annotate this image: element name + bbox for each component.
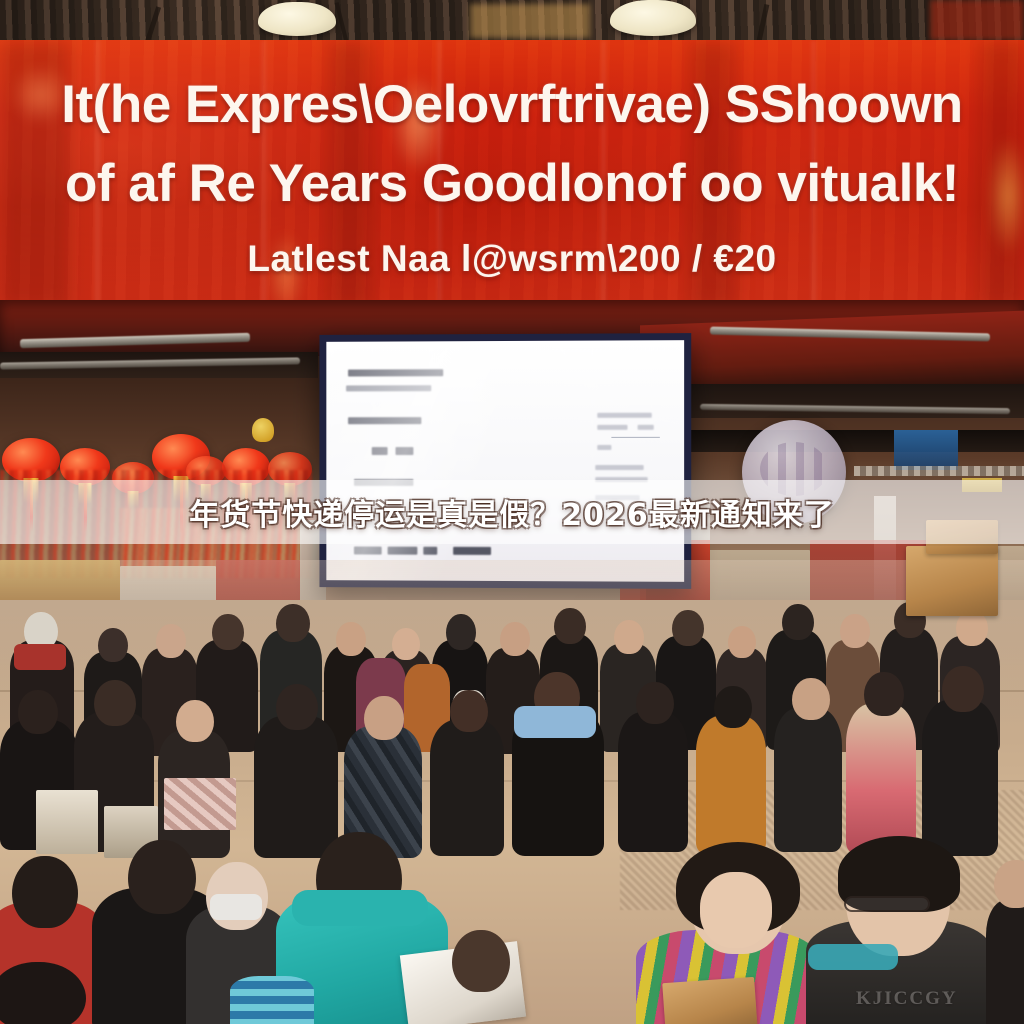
person-head [994,860,1024,908]
person-head [176,700,214,742]
face [700,872,772,948]
overlay-title: 年货节快递停运是真是假？2026最新通知来了 [0,480,1024,544]
person-head [446,614,476,650]
person-head [792,678,830,720]
cardboard-box [906,546,998,616]
banner-line-3: Latlest Naa l@wsrm\200 / €20 [247,240,776,277]
person-head [364,696,404,740]
billboard-screen [326,340,684,582]
cardboard-box [662,977,758,1024]
shop-signage-stripe [854,466,1024,476]
person-head [450,690,488,732]
gift-package [164,778,236,830]
billboard-text-line [638,425,654,430]
person-head [336,622,366,656]
billboard-text-line [423,547,437,555]
person-head [18,690,58,734]
billboard-text-line [396,447,414,455]
person-body-striped [230,976,314,1024]
person-head [500,622,530,656]
person-body [986,900,1024,1024]
person-body [922,700,998,856]
person-head [714,686,752,728]
person-body-orange [696,716,766,854]
shop-signage-blue [894,430,958,470]
person-head [98,628,128,662]
ceiling-light [610,0,696,36]
billboard-text-line [597,413,651,418]
person-head [554,608,586,644]
person-head [128,840,196,914]
golden-ornament [252,418,274,442]
billboard-text-line [348,369,443,376]
ceiling-warm-panel [470,4,590,38]
person-head [782,604,814,640]
person-head [840,614,870,648]
person-head [276,684,318,730]
billboard-text-line [597,445,611,450]
person-head [452,930,510,992]
billboard-text-line [372,447,388,455]
eyeglasses [844,896,930,912]
person-body [774,708,842,852]
ceiling-dark-band [690,430,1024,452]
hero-image: It(he Expres\Oelovrftrivae) SShoown of a… [0,0,1024,1024]
ceiling-light [258,2,336,36]
person-head [636,682,674,724]
person-head [12,856,78,928]
person-body [618,712,688,852]
billboard-text-line [388,547,418,555]
person-head [94,680,136,726]
billboard-text-line [348,417,421,424]
face-mask [210,894,262,920]
banner-line-1: It(he Expres\Oelovrftrivae) SShoown [61,78,962,131]
person-body [254,716,338,858]
collar-teal [808,944,898,970]
led-billboard[interactable] [319,333,691,589]
person-head [614,620,644,654]
person-body-pink [846,704,916,854]
banner-line-2: of af Re Years Goodlonof oo vitualk! [65,157,959,210]
hood-collar [292,890,428,926]
billboard-text-line [346,385,431,391]
person-head [864,672,904,716]
blue-scarf [514,706,596,738]
ceiling-warm-panel [930,0,1024,40]
person-head [212,614,244,650]
person-head [672,610,704,646]
scarf [14,644,66,670]
billboard-text-line [597,425,627,430]
shopping-bag [36,790,98,854]
billboard-text-line [595,465,643,470]
person-head [728,626,756,658]
person-head [392,628,420,660]
person-head [156,624,186,658]
person-head [942,666,984,712]
billboard-text-line [354,546,382,554]
person-head [276,604,310,642]
person-body [430,720,504,856]
billboard-text-line [453,547,491,555]
red-new-year-banner: It(he Expres\Oelovrftrivae) SShoown of a… [0,40,1024,308]
billboard-rule [611,437,659,438]
banner-text-block: It(he Expres\Oelovrftrivae) SShoown of a… [0,40,1024,308]
